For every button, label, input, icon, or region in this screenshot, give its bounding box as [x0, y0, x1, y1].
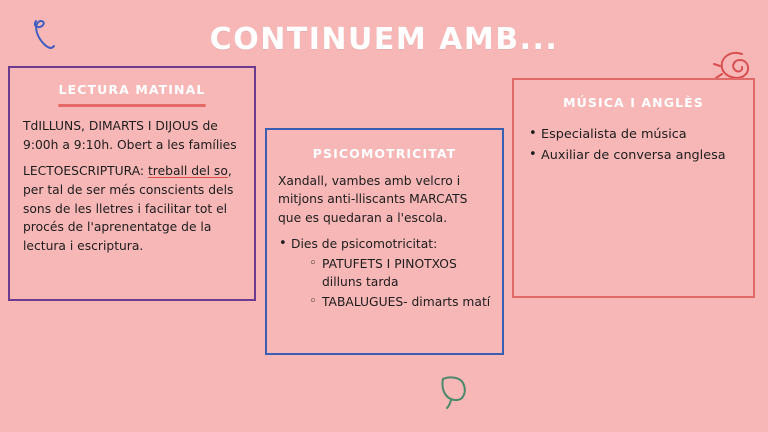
list-item: TABALUGUES- dimarts matí: [309, 293, 492, 311]
card-musica-angles: MÚSICA I ANGLÈS Especialista de música A…: [512, 78, 755, 298]
psico-intro-text: Xandall, vambes amb velcro i mitjons ant…: [278, 172, 492, 227]
lectoescriptura-highlight: treball del so: [148, 164, 228, 178]
psico-sub-list: PATUFETS I PINOTXOS dilluns tarda TABALU…: [291, 255, 492, 311]
lectura-paragraph-lectoescriptura: LECTOESCRIPTURA: treball del so, per tal…: [23, 162, 242, 255]
card-psicomotricitat: PSICOMOTRICITAT Xandall, vambes amb velc…: [265, 128, 504, 355]
card-psicomotricitat-heading: PSICOMOTRICITAT: [267, 146, 502, 161]
card-lectura-matinal: LECTURA MATINAL TdILLUNS, DIMARTS I DIJO…: [8, 66, 256, 301]
list-item: Especialista de música: [528, 125, 743, 145]
page-title: CONTINUEM AMB...: [0, 22, 768, 57]
psico-bullet-label: Dies de psicomotricitat:: [291, 237, 437, 251]
psico-bullet-list: Dies de psicomotricitat: PATUFETS I PINO…: [278, 235, 492, 311]
card-lectura-heading: LECTURA MATINAL: [10, 82, 254, 97]
musica-bullet-list: Especialista de música Auxiliar de conve…: [528, 125, 743, 166]
card-psicomotricitat-body: Xandall, vambes amb velcro i mitjons ant…: [267, 161, 502, 311]
lectoescriptura-label: LECTOESCRIPTURA:: [23, 164, 144, 178]
list-item: Dies de psicomotricitat: PATUFETS I PINO…: [278, 235, 492, 311]
card-musica-body: Especialista de música Auxiliar de conve…: [514, 110, 753, 166]
leaf-doodle: [437, 375, 473, 409]
list-item: PATUFETS I PINOTXOS dilluns tarda: [309, 255, 492, 292]
slide-canvas: CONTINUEM AMB... LECTURA MATINAL TdILLUN…: [0, 0, 768, 432]
list-item: Auxiliar de conversa anglesa: [528, 146, 743, 166]
lectura-paragraph-schedule: TdILLUNS, DIMARTS I DIJOUS de 9:00h a 9:…: [23, 117, 242, 154]
card-musica-heading: MÚSICA I ANGLÈS: [514, 95, 753, 110]
card-lectura-body: TdILLUNS, DIMARTS I DIJOUS de 9:00h a 9:…: [10, 107, 254, 256]
